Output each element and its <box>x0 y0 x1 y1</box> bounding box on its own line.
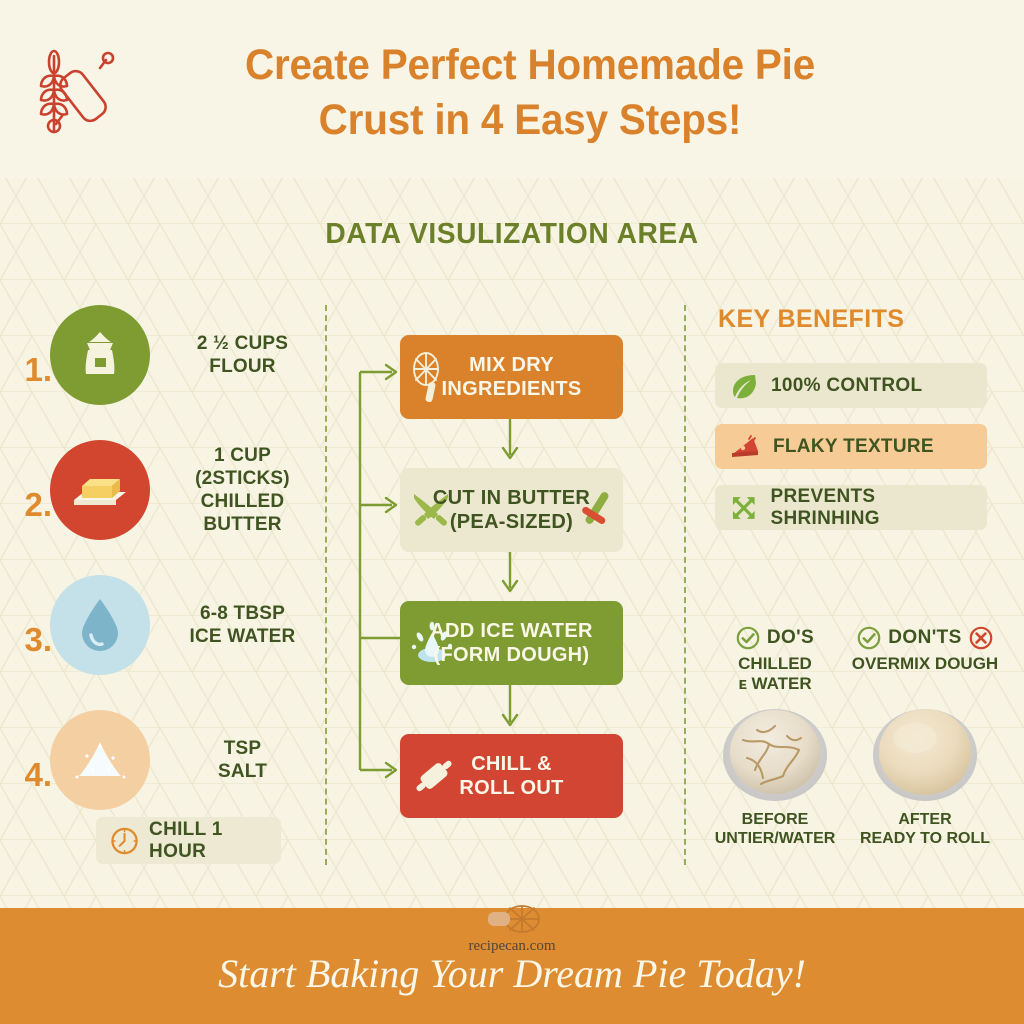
divider-left <box>325 305 327 865</box>
ingredient-icon-circle <box>50 575 150 675</box>
ingredient-icon-circle <box>50 710 150 810</box>
ingredient-line-3: BUTTER <box>203 513 281 536</box>
benefit-row-3[interactable]: PREVENTS SHRINHING <box>715 485 987 530</box>
dos-subtitle: CHILLED ᴇ WATER <box>700 654 850 694</box>
benefit-label: FLAKY TEXTURE <box>773 436 934 458</box>
pie-slice-icon <box>729 432 761 462</box>
title-line-2: Crust in 4 Easy Steps! <box>173 93 887 148</box>
ingredient-line-2: ICE WATER <box>190 625 296 648</box>
donts-subtitle: OVERMIX DOUGH <box>850 654 1000 674</box>
clock-icon <box>110 826 139 856</box>
x-circle-icon <box>969 626 993 650</box>
dos-column: DO'S CHILLED ᴇ WATER <box>700 625 850 848</box>
chill-time-badge[interactable]: CHILL 1 HOUR <box>96 817 281 864</box>
donts-column: DON'TS OVERMIX DOUGH <box>850 625 1000 848</box>
ingredient-line-1: 1 CUP <box>214 444 271 467</box>
water-drop-icon <box>76 595 124 655</box>
process-flowchart: MIX DRY INGREDIENTS CUT IN BUTTER (PEA-S… <box>330 300 680 870</box>
ingredient-row-4[interactable]: 4. TSP SALT <box>0 710 325 810</box>
ingredient-text: TSP SALT <box>160 710 325 810</box>
dos-donts-comparison: DO'S CHILLED ᴇ WATER <box>690 625 1010 875</box>
ingredient-number: 1. <box>16 351 52 389</box>
rolling-pin-icon <box>408 750 460 802</box>
ingredient-number: 3. <box>16 621 52 659</box>
ingredient-line-1: 6-8 TBSP <box>200 602 285 625</box>
check-circle-icon <box>736 626 760 650</box>
ingredient-text: 2 ½ CUPS FLOUR <box>160 305 325 405</box>
flow-step-3-label: ADD ICE WATER (FORM DOUGH) <box>430 619 592 667</box>
benefit-row-1[interactable]: 100% CONTROL <box>715 363 987 408</box>
donts-header: DON'TS <box>850 625 1000 651</box>
flow-step-4-label: CHILL & ROLL OUT <box>459 752 563 800</box>
ingredient-row-1[interactable]: 1. 2 ½ CUPS FLOUR <box>0 305 325 405</box>
donts-title: DON'TS <box>888 627 961 649</box>
flow-step-2[interactable]: CUT IN BUTTER (PEA-SIZED) <box>400 468 623 552</box>
ingredient-row-2[interactable]: 2. 1 CUP (2STICKS) CHILLED BUTTER <box>0 440 325 540</box>
ingredient-icon-circle <box>50 440 150 540</box>
ingredient-text: 1 CUP (2STICKS) CHILLED BUTTER <box>160 440 325 540</box>
section-title: DATA VISULIZATION AREA <box>15 218 1008 251</box>
footer-cta: Start Baking Your Dream Pie Today! <box>0 950 1024 997</box>
infographic-page: Create Perfect Homemade Pie Crust in 4 E… <box>0 0 1024 1024</box>
cracked-dough-ball-photo <box>717 700 833 804</box>
ingredients-list: 1. 2 ½ CUPS FLOUR 2. <box>0 305 325 865</box>
flow-step-3[interactable]: ADD ICE WATER (FORM DOUGH) <box>400 601 623 685</box>
smooth-dough-ball-photo <box>867 700 983 804</box>
dos-header: DO'S <box>700 625 850 651</box>
header: Create Perfect Homemade Pie Crust in 4 E… <box>0 0 1024 178</box>
ingredient-number: 2. <box>16 486 52 524</box>
benefit-label: PREVENTS SHRINHING <box>771 486 987 530</box>
leaf-icon <box>729 371 759 401</box>
title-line-1: Create Perfect Homemade Pie <box>245 41 815 89</box>
ingredient-line-1: 2 ½ CUPS <box>197 332 288 355</box>
ingredient-icon-circle <box>50 305 150 405</box>
check-circle-icon <box>857 626 881 650</box>
ingredient-line-1: TSP <box>224 737 262 760</box>
butter-block-icon <box>68 464 132 516</box>
page-title: Create Perfect Homemade Pie Crust in 4 E… <box>173 38 887 148</box>
flow-step-2-label: CUT IN BUTTER (PEA-SIZED) <box>433 486 590 534</box>
flow-step-4[interactable]: CHILL & ROLL OUT <box>400 734 623 818</box>
wheat-rolling-pin-icon <box>28 40 126 142</box>
ingredient-number: 4. <box>16 756 52 794</box>
chill-badge-label: CHILL 1 HOUR <box>149 819 281 863</box>
key-benefits-title: KEY BENEFITS <box>718 305 1010 334</box>
ingredient-text: 6-8 TBSP ICE WATER <box>160 575 325 675</box>
expand-arrows-icon <box>729 493 759 523</box>
dos-caption: BEFORE UNTIER/WATER <box>700 810 850 848</box>
salt-pile-icon <box>69 736 131 784</box>
benefit-label: 100% CONTROL <box>771 375 922 397</box>
flow-step-1[interactable]: MIX DRY INGREDIENTS <box>400 335 623 419</box>
ingredient-row-3[interactable]: 3. 6-8 TBSP ICE WATER <box>0 575 325 675</box>
ingredient-line-2: FLOUR <box>209 355 275 378</box>
key-benefits-panel: KEY BENEFITS 100% CONTROL FLAKY TEXTURE <box>700 305 1010 334</box>
donts-caption: AFTER READY TO ROLL <box>850 810 1000 848</box>
ingredient-line-2: SALT <box>218 760 267 783</box>
flow-step-1-label: MIX DRY INGREDIENTS <box>442 353 582 401</box>
divider-right <box>684 305 686 865</box>
dos-title: DO'S <box>767 627 814 649</box>
ingredient-line-2: (2STICKS) CHILLED <box>160 467 325 513</box>
benefit-row-2[interactable]: FLAKY TEXTURE <box>715 424 987 469</box>
flour-sack-icon <box>71 326 129 384</box>
